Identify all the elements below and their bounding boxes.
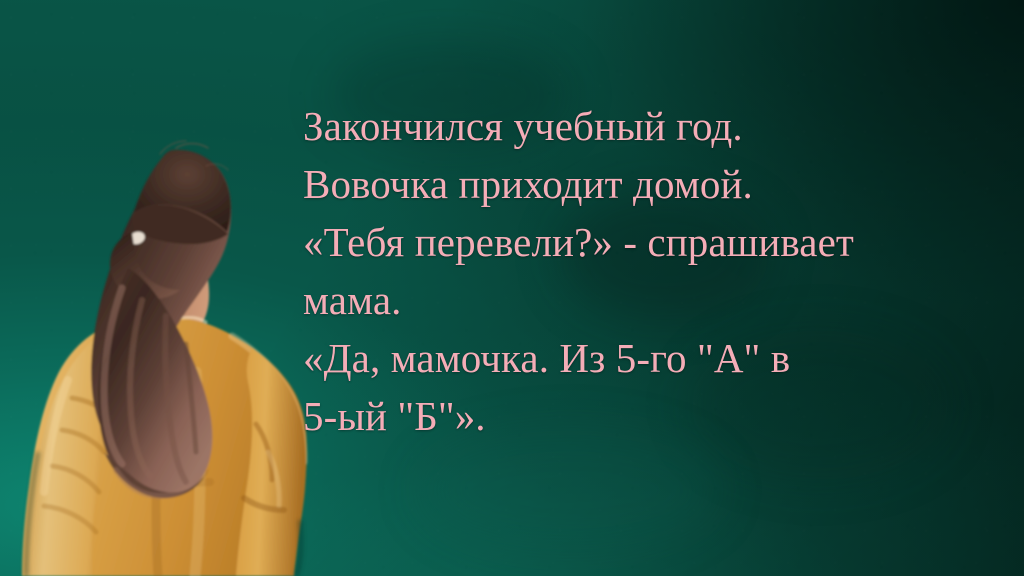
joke-line-4: мама. — [303, 271, 1003, 329]
image-canvas: Закончился учебный год. Вовочка приходит… — [0, 0, 1024, 576]
joke-line-3: «Тебя перевели?» - спрашивает — [303, 213, 1003, 271]
joke-line-2: Вовочка приходит домой. — [303, 155, 1003, 213]
woman-figure — [0, 0, 340, 576]
joke-text-block: Закончился учебный год. Вовочка приходит… — [303, 97, 1003, 445]
joke-line-1: Закончился учебный год. — [303, 97, 1003, 155]
hair-flyaway — [176, 144, 208, 149]
joke-line-5: «Да, мамочка. Из 5-го "А" в — [303, 329, 1003, 387]
joke-line-6: 5-ый "Б"». — [303, 387, 1003, 445]
